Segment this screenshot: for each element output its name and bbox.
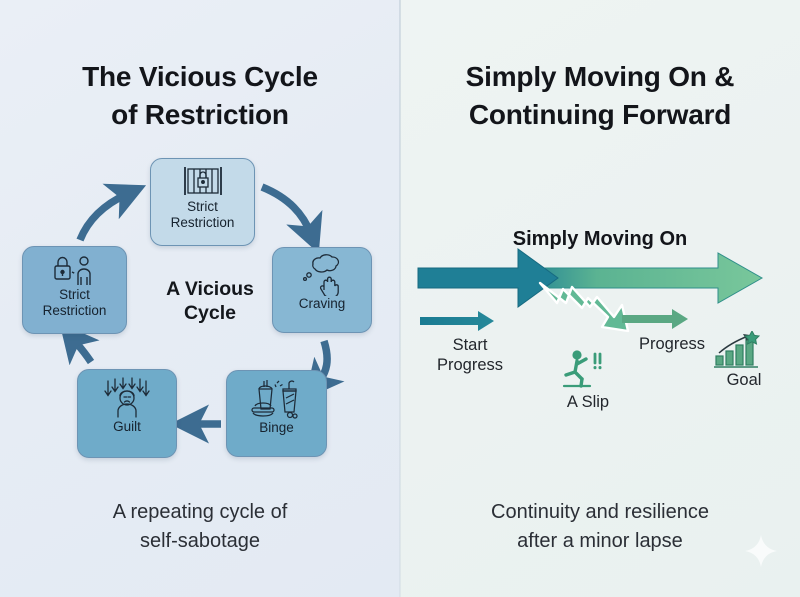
- node-label-line-1: Binge: [227, 420, 326, 436]
- start-small-arrow: [420, 311, 494, 331]
- start-line-2: Progress: [418, 355, 522, 375]
- left-panel: The Vicious Cycle of Restriction: [0, 0, 400, 597]
- progress-small-arrow: [622, 309, 688, 329]
- start-progress-arrow-segment: [418, 249, 558, 307]
- start-line-1: Start: [418, 335, 522, 355]
- label-goal: Goal: [706, 370, 782, 390]
- thought-bubble-hand-icon: [296, 254, 348, 296]
- infographic: The Vicious Cycle of Restriction: [0, 0, 800, 597]
- label-start-progress: Start Progress: [418, 335, 522, 375]
- slipping-person-icon: [560, 348, 606, 392]
- gate-lock-icon: [179, 165, 227, 199]
- cycle-node-strict-restriction-left[interactable]: Strict Restriction: [22, 246, 127, 334]
- arrow-restriction-to-top: [80, 194, 127, 240]
- cycle-node-guilt[interactable]: Guilt: [77, 369, 177, 458]
- left-caption-line-2: self-sabotage: [0, 527, 400, 556]
- node-label-line-1: Guilt: [78, 419, 176, 435]
- left-panel-caption: A repeating cycle of self-sabotage: [0, 498, 400, 556]
- left-caption-line-1: A repeating cycle of: [0, 498, 400, 527]
- arrow-guilt-to-restriction: [73, 339, 91, 362]
- label-progress: Progress: [620, 334, 724, 354]
- right-panel-caption: Continuity and resilience after a minor …: [400, 498, 800, 556]
- arrow-restriction-to-craving: [262, 187, 311, 234]
- lock-person-icon: [50, 253, 100, 287]
- cycle-node-strict-restriction-top[interactable]: Strict Restriction: [150, 158, 255, 246]
- label-a-slip: A Slip: [545, 392, 631, 412]
- sad-person-down-arrows-icon: [99, 377, 155, 419]
- panel-divider: [399, 0, 401, 597]
- cycle-node-craving[interactable]: Craving: [272, 247, 372, 333]
- left-panel-title: The Vicious Cycle of Restriction: [0, 58, 400, 134]
- right-caption-line-2: after a minor lapse: [400, 527, 800, 556]
- node-label-line-1: Craving: [273, 296, 371, 312]
- cycle-center-label: A Vicious Cycle: [140, 277, 280, 325]
- node-label-line-2: Restriction: [23, 303, 126, 319]
- right-panel-title: Simply Moving On & Continuing Forward: [400, 58, 800, 134]
- cycle-node-binge[interactable]: Binge: [226, 370, 327, 457]
- slip-zigzag-arrow: [540, 283, 628, 331]
- sparkle-icon: [744, 534, 778, 568]
- left-title-line-2: of Restriction: [0, 96, 400, 134]
- node-label-line-2: Restriction: [151, 215, 254, 231]
- fast-food-icon: [250, 378, 304, 420]
- center-label-line-2: Cycle: [140, 301, 280, 325]
- center-label-line-1: A Vicious: [140, 277, 280, 301]
- right-title-line-2: Continuing Forward: [400, 96, 800, 134]
- left-title-line-1: The Vicious Cycle: [0, 58, 400, 96]
- right-title-line-1: Simply Moving On &: [400, 58, 800, 96]
- right-caption-line-1: Continuity and resilience: [400, 498, 800, 527]
- growth-chart-star-icon: [712, 331, 764, 371]
- node-label-line-1: Strict: [23, 287, 126, 303]
- node-label-line-1: Strict: [151, 199, 254, 215]
